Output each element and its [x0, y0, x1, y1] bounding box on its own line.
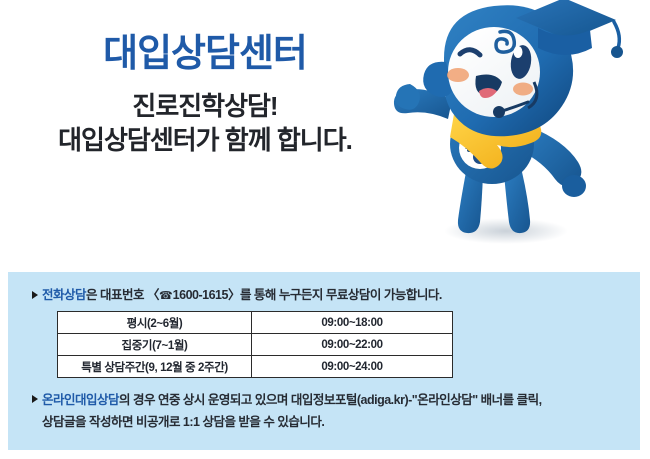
mascot-left-hand	[396, 84, 420, 110]
mascot-right-hand	[562, 175, 586, 197]
phone-counseling-bullet: 전화상담은 대표번호 〈☎1600-1615〉를 통해 누구든지 무료상담이 가…	[32, 286, 442, 305]
table-row: 집중기(7~1월) 09:00~22:00	[58, 334, 453, 356]
hours-value-cell: 09:00~24:00	[252, 356, 453, 378]
online-counseling-bullet: 온라인대입상담의 경우 연중 상시 운영되고 있으며 대입정보포털(adiga.…	[32, 390, 632, 434]
table-row: 특별 상담주간(9, 12월 중 2주간) 09:00~24:00	[58, 356, 453, 378]
hero-banner: 대입상담센터 진로진학상담! 대입상담센터가 함께 합니다.	[0, 0, 650, 268]
hero-subtitle-line-1: 진로진학상담!	[10, 91, 400, 123]
online-counseling-line-2: 상담글을 작성하면 비공개로 1:1 상담을 받을 수 있습니다.	[42, 415, 324, 429]
mascot-right-blush	[513, 83, 533, 96]
adiga-mascot-illustration	[388, 0, 650, 264]
phone-text-before: 은 대표번호 〈	[86, 288, 159, 302]
mascot-grad-cap-tassel-cord	[614, 22, 619, 48]
phone-counseling-text: 전화상담은 대표번호 〈☎1600-1615〉를 통해 누구든지 무료상담이 가…	[42, 286, 442, 305]
hero-text-block: 대입상담센터 진로진학상담! 대입상담센터가 함께 합니다.	[10, 34, 400, 156]
phone-counseling-label: 전화상담	[42, 288, 86, 302]
hero-subtitle-line-2: 대입상담센터가 함께 합니다.	[10, 125, 400, 157]
counseling-hours-table: 평시(2~6월) 09:00~18:00 집중기(7~1월) 09:00~22:…	[57, 311, 453, 378]
phone-text-after: 〉를 통해 누구든지 무료상담이 가능합니다.	[228, 288, 442, 302]
page-title: 대입상담센터	[10, 34, 400, 75]
phone-number: 1600-1615	[173, 288, 228, 302]
hours-value-cell: 09:00~18:00	[252, 312, 453, 334]
table-row: 평시(2~6월) 09:00~18:00	[58, 312, 453, 334]
hours-label-cell: 평시(2~6월)	[58, 312, 252, 334]
hours-value-cell: 09:00~22:00	[252, 334, 453, 356]
triangle-bullet-icon	[32, 395, 38, 403]
online-counseling-label: 온라인대입상담	[42, 393, 119, 407]
mascot-left-blush	[447, 68, 469, 82]
online-counseling-text: 온라인대입상담의 경우 연중 상시 운영되고 있으며 대입정보포털(adiga.…	[42, 390, 542, 434]
hours-label-cell: 특별 상담주간(9, 12월 중 2주간)	[58, 356, 252, 378]
online-counseling-line-1: 의 경우 연중 상시 운영되고 있으며 대입정보포털(adiga.kr)-"온라…	[119, 393, 542, 407]
triangle-bullet-icon	[32, 291, 38, 299]
hours-label-cell: 집중기(7~1월)	[58, 334, 252, 356]
telephone-icon: ☎	[159, 290, 173, 302]
mascot-headset-mic	[493, 106, 505, 118]
mascot-grad-cap-tassel	[611, 46, 623, 58]
mascot-eye-highlight	[514, 46, 523, 58]
